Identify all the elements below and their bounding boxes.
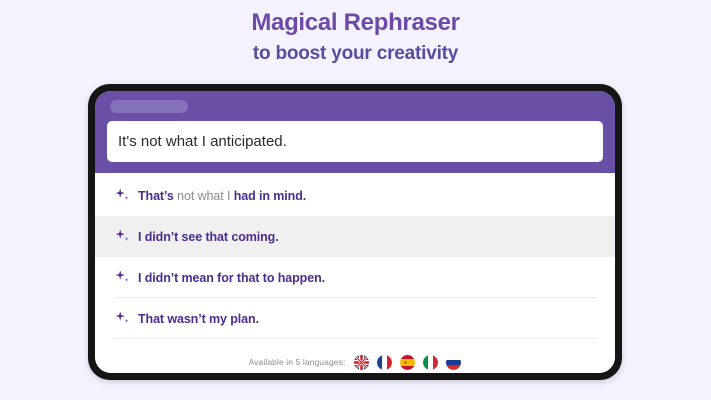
rephrase-input[interactable]: It's not what I anticipated.	[107, 121, 603, 162]
sparkle-icon	[114, 269, 131, 286]
list-item[interactable]: I didn’t see that coming.	[95, 216, 615, 257]
suggestion-text: That wasn’t my plan.	[138, 312, 259, 326]
app-footer: Available in 5 languages:	[95, 339, 615, 373]
suggestion-text: That’s not what I had in mind.	[138, 189, 306, 203]
sparkle-icon	[114, 310, 131, 327]
page-heading: Magical Rephraser to boost your creativi…	[0, 8, 711, 67]
suggestion-part: had in mind.	[234, 189, 306, 203]
tablet-device-frame: It's not what I anticipated. That’s not …	[88, 84, 622, 380]
page-title: Magical Rephraser	[0, 8, 711, 38]
list-item[interactable]: That wasn’t my plan.	[95, 298, 615, 339]
sparkle-icon	[114, 187, 131, 204]
list-item[interactable]: I didn’t mean for that to happen.	[95, 257, 615, 298]
flag-united-kingdom[interactable]	[354, 355, 369, 370]
sparkle-icon	[114, 228, 131, 245]
rephrase-input-value: It's not what I anticipated.	[118, 121, 287, 162]
list-item[interactable]: That’s not what I had in mind.	[95, 175, 615, 216]
flag-italy[interactable]	[423, 355, 438, 370]
header-placeholder-pill	[110, 100, 188, 113]
app-header: It's not what I anticipated.	[95, 91, 615, 173]
language-flag-list	[354, 355, 461, 370]
flag-spain[interactable]	[400, 355, 415, 370]
page-root: Magical Rephraser to boost your creativi…	[0, 0, 711, 400]
page-subtitle: to boost your creativity	[0, 41, 711, 67]
flag-russia[interactable]	[446, 355, 461, 370]
flag-france[interactable]	[377, 355, 392, 370]
suggestion-text: I didn’t mean for that to happen.	[138, 271, 325, 285]
languages-label: Available in 5 languages:	[249, 357, 346, 367]
suggestion-part: That’s	[138, 189, 177, 203]
suggestion-text: I didn’t see that coming.	[138, 230, 279, 244]
app-screen: It's not what I anticipated. That’s not …	[95, 91, 615, 373]
suggestion-part-muted: not what I	[177, 189, 234, 203]
suggestion-list: That’s not what I had in mind. I didn’t …	[95, 173, 615, 339]
